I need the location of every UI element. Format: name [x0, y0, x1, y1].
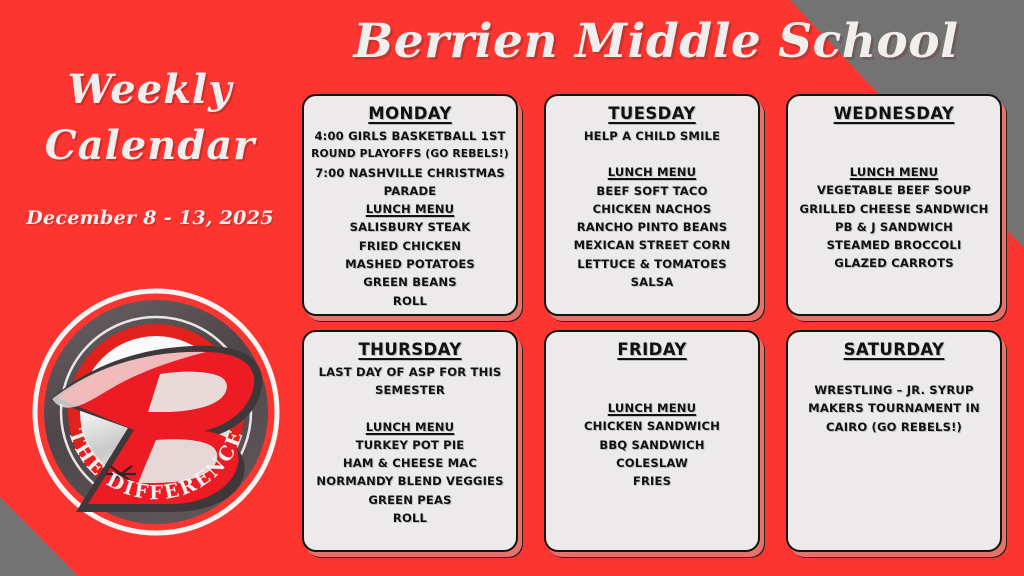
day-detail-line: MAKERS TOURNAMENT IN [794, 399, 994, 417]
day-heading: WEDNESDAY [794, 104, 994, 123]
day-detail-line: GLAZED CARROTS [794, 254, 994, 272]
day-detail-line: FRIED CHICKEN [310, 237, 510, 255]
day-detail-line: WRESTLING – JR. SYRUP [794, 381, 994, 399]
day-detail-line: NORMANDY BLEND VEGGIES [310, 472, 510, 490]
day-card: FRIDAYLUNCH MENUCHICKEN SANDWICHBBQ SAND… [544, 330, 760, 552]
day-card-content: TUESDAYHELP A CHILD SMILELUNCH MENUBEEF … [552, 104, 752, 291]
day-detail-line: GRILLED CHEESE SANDWICH [794, 200, 994, 218]
day-detail-line: MEXICAN STREET CORN [552, 236, 752, 254]
lunch-menu-heading: LUNCH MENU [552, 163, 752, 181]
spacer-line [794, 145, 994, 163]
day-detail-line: CAIRO (GO REBELS!) [794, 418, 994, 436]
day-detail-line: ROUND PLAYOFFS (GO REBELS!) [310, 145, 510, 163]
day-detail-line: LAST DAY OF ASP FOR THIS [310, 363, 510, 381]
day-detail-line: GREEN PEAS [310, 491, 510, 509]
page-title: Berrien Middle School [296, 12, 1016, 72]
day-detail-line: HELP A CHILD SMILE [552, 127, 752, 145]
day-card: SATURDAYWRESTLING – JR. SYRUPMAKERS TOUR… [786, 330, 1002, 552]
day-heading: THURSDAY [310, 340, 510, 359]
day-detail-line: SEMESTER [310, 381, 510, 399]
berrien-b-logo-icon: THE DIFFERENCE [32, 288, 280, 536]
spacer-line [794, 363, 994, 381]
day-card-content: FRIDAYLUNCH MENUCHICKEN SANDWICHBBQ SAND… [552, 340, 752, 490]
weekly-calendar-poster: Berrien Middle School Weekly Calendar De… [0, 0, 1024, 576]
sidebar-title-line1: Weekly [0, 62, 300, 118]
day-detail-line: STEAMED BROCCOLI [794, 236, 994, 254]
day-heading: FRIDAY [552, 340, 752, 359]
sidebar-title: Weekly Calendar [0, 62, 300, 174]
sidebar-title-line2: Calendar [0, 118, 300, 174]
sidebar: Weekly Calendar December 8 - 13, 2025 [0, 0, 300, 576]
day-detail-line: HAM & CHEESE MAC [310, 454, 510, 472]
day-card: MONDAY4:00 GIRLS BASKETBALL 1STROUND PLA… [302, 94, 518, 316]
spacer-line [552, 145, 752, 163]
day-detail-line: SALISBURY STEAK [310, 218, 510, 236]
school-logo: THE DIFFERENCE [32, 288, 280, 536]
day-card: THURSDAYLAST DAY OF ASP FOR THISSEMESTER… [302, 330, 518, 552]
date-range: December 8 - 13, 2025 [0, 207, 300, 229]
day-detail-line: 7:00 NASHVILLE CHRISTMAS [310, 164, 510, 182]
day-detail-line: CHICKEN NACHOS [552, 200, 752, 218]
day-detail-line: ROLL [310, 509, 510, 527]
spacer-line [552, 381, 752, 399]
day-detail-line: VEGETABLE BEEF SOUP [794, 181, 994, 199]
day-card-content: MONDAY4:00 GIRLS BASKETBALL 1STROUND PLA… [310, 104, 510, 310]
day-detail-line: BBQ SANDWICH [552, 436, 752, 454]
spacer-line [794, 127, 994, 145]
day-card: WEDNESDAYLUNCH MENUVEGETABLE BEEF SOUPGR… [786, 94, 1002, 316]
day-detail-line: SALSA [552, 273, 752, 291]
spacer-line [552, 363, 752, 381]
lunch-menu-heading: LUNCH MENU [310, 200, 510, 218]
day-heading: SATURDAY [794, 340, 994, 359]
day-detail-line: PB & J SANDWICH [794, 218, 994, 236]
day-detail-line: PARADE [310, 182, 510, 200]
day-detail-line: 4:00 GIRLS BASKETBALL 1ST [310, 127, 510, 145]
day-detail-line: COLESLAW [552, 454, 752, 472]
day-card: TUESDAYHELP A CHILD SMILELUNCH MENUBEEF … [544, 94, 760, 316]
day-detail-line: CHICKEN SANDWICH [552, 417, 752, 435]
day-detail-line: TURKEY POT PIE [310, 436, 510, 454]
spacer-line [310, 400, 510, 418]
day-detail-line: ROLL [310, 292, 510, 310]
lunch-menu-heading: LUNCH MENU [310, 418, 510, 436]
day-card-content: THURSDAYLAST DAY OF ASP FOR THISSEMESTER… [310, 340, 510, 527]
days-grid: MONDAY4:00 GIRLS BASKETBALL 1STROUND PLA… [302, 94, 1002, 552]
day-heading: TUESDAY [552, 104, 752, 123]
lunch-menu-heading: LUNCH MENU [794, 163, 994, 181]
day-card-content: WEDNESDAYLUNCH MENUVEGETABLE BEEF SOUPGR… [794, 104, 994, 273]
lunch-menu-heading: LUNCH MENU [552, 399, 752, 417]
day-detail-line: GREEN BEANS [310, 273, 510, 291]
day-detail-line: BEEF SOFT TACO [552, 182, 752, 200]
day-detail-line: RANCHO PINTO BEANS [552, 218, 752, 236]
day-detail-line: FRIES [552, 472, 752, 490]
day-detail-line: MASHED POTATOES [310, 255, 510, 273]
day-detail-line: LETTUCE & TOMATOES [552, 255, 752, 273]
day-card-content: SATURDAYWRESTLING – JR. SYRUPMAKERS TOUR… [794, 340, 994, 436]
day-heading: MONDAY [310, 104, 510, 123]
